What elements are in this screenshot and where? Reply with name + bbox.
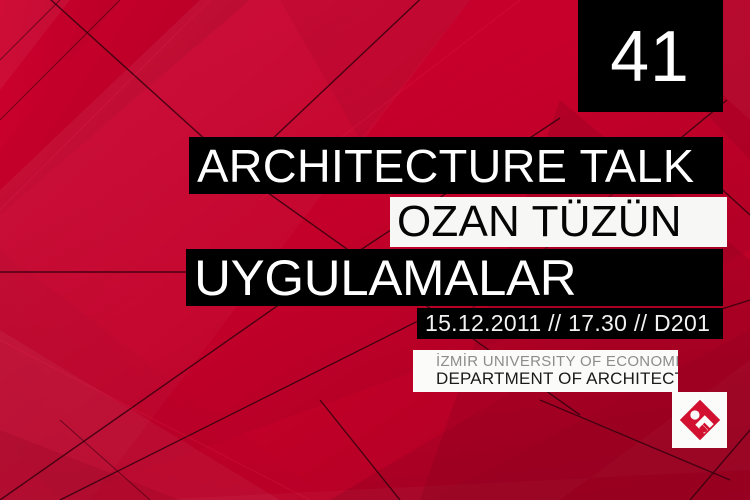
institution-band: İZMİR UNIVERSITY OF ECONOMICS DEPARTMENT… [413,350,678,392]
institution-department: DEPARTMENT OF ARCHITECTURE [436,370,678,388]
university-logo-icon [679,399,721,441]
speaker-band: OZAN TÜZÜN [390,197,727,247]
topic-band: UYGULAMALAR [186,249,723,306]
speaker-name: OZAN TÜZÜN [390,200,682,244]
logo-box [672,392,727,448]
event-details: 15.12.2011 // 17.30 // D201 [417,312,710,335]
issue-number-box: 41 [578,0,723,112]
event-details-band: 15.12.2011 // 17.30 // D201 [417,308,723,339]
topic-title: UYGULAMALAR [186,253,576,303]
poster-title: ARCHITECTURE TALK [189,143,694,189]
title-band: ARCHITECTURE TALK [189,137,723,194]
issue-number: 41 [611,21,691,93]
institution-university: İZMİR UNIVERSITY OF ECONOMICS [436,354,678,370]
poster: 41 ARCHITECTURE TALK OZAN TÜZÜN UYGULAMA… [0,0,750,500]
